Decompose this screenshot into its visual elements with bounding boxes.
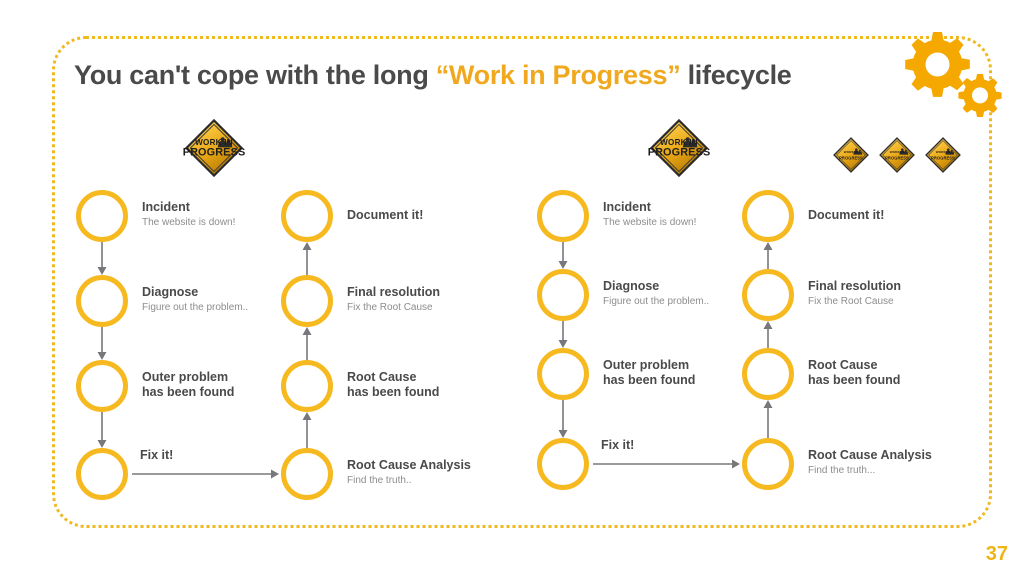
lifecycle-diagram-left-up-label-sub-3: Find the truth..: [347, 474, 471, 488]
lifecycle-diagram-right-up-label-text-1: Final resolution: [808, 279, 901, 294]
lifecycle-diagram-left-up-label-0: Document it!: [347, 208, 423, 223]
lifecycle-diagram-right-up-node-2[interactable]: [742, 348, 794, 400]
svg-text:WORK IN: WORK IN: [195, 138, 233, 147]
lifecycle-diagram-left-down-label-2: Outer problemhas been found: [142, 370, 234, 400]
lifecycle-diagram-right-up-arrow-2: [760, 400, 776, 438]
lifecycle-diagram-right-up-label-0: Document it!: [808, 208, 884, 223]
lifecycle-diagram-right-up-node-0[interactable]: [742, 190, 794, 242]
lifecycle-diagram-right-down-node-1[interactable]: [537, 269, 589, 321]
lifecycle-diagram-right-cross-arrow: [593, 456, 740, 472]
lifecycle-diagram-left-up-label-sub-1: Fix the Root Cause: [347, 301, 440, 315]
lifecycle-diagram-right-up-label-text-3: Root Cause Analysis: [808, 448, 932, 463]
lifecycle-diagram-left-up-node-2[interactable]: [281, 360, 333, 412]
svg-text:PROGRESS: PROGRESS: [885, 156, 909, 161]
lifecycle-diagram-right-down-node-3[interactable]: [537, 438, 589, 490]
lifecycle-diagram-right-down-node-0[interactable]: [537, 190, 589, 242]
lifecycle-diagram-right-up-label-text-2: has been found: [808, 373, 900, 388]
lifecycle-diagram-right-up-arrow-0: [760, 242, 776, 269]
lifecycle-diagram-left-down-arrow-2: [94, 412, 110, 448]
lifecycle-diagram-right-up-label-1: Final resolutionFix the Root Cause: [808, 279, 901, 309]
lifecycle-diagram-left-up-label-2: Root Causehas been found: [347, 370, 439, 400]
lifecycle-diagram-left-down-label-text-0: Incident: [142, 200, 235, 215]
lifecycle-diagram-right-up-node-1[interactable]: [742, 269, 794, 321]
lifecycle-diagram-left-down-node-1[interactable]: [76, 275, 128, 327]
lifecycle-diagram-right-up-label-sub-1: Fix the Root Cause: [808, 295, 901, 309]
lifecycle-diagram-left-down-arrow-1: [94, 327, 110, 360]
svg-text:PROGRESS: PROGRESS: [931, 156, 955, 161]
lifecycle-diagram-right: IncidentThe website is down!DiagnoseFigu…: [537, 190, 957, 520]
lifecycle-diagram-right-down-label-text-2: has been found: [603, 373, 695, 388]
lifecycle-diagram-right-down-arrow-2: [555, 400, 571, 438]
title-text-after: lifecycle: [680, 60, 791, 90]
lifecycle-diagram-right-down-label-sub-0: The website is down!: [603, 216, 696, 230]
svg-text:PROGRESS: PROGRESS: [839, 156, 863, 161]
lifecycle-diagram-left-up-label-text-1: Final resolution: [347, 285, 440, 300]
wip-sign-right: WORK IN PROGRESS: [648, 117, 710, 179]
lifecycle-diagram-right-down-label-0: IncidentThe website is down!: [603, 200, 696, 230]
lifecycle-diagram-left-down-label-1: DiagnoseFigure out the problem..: [142, 285, 248, 315]
lifecycle-diagram-right-up-label-2: Root Causehas been found: [808, 358, 900, 388]
page-number: 37: [986, 543, 1008, 566]
lifecycle-diagram-right-down-label-text-2: Outer problem: [603, 358, 695, 373]
lifecycle-diagram-right-up-arrow-1: [760, 321, 776, 348]
lifecycle-diagram-left-down-arrow-0: [94, 242, 110, 275]
lifecycle-diagram-left-up-label-text-2: has been found: [347, 385, 439, 400]
lifecycle-diagram-right-down-label-text-0: Incident: [603, 200, 696, 215]
svg-text:PROGRESS: PROGRESS: [648, 146, 710, 158]
wip-sign-extra-3: WORK IN PROGRESS: [924, 136, 962, 174]
svg-text:WORK IN: WORK IN: [890, 150, 905, 154]
lifecycle-diagram-left-up-node-3[interactable]: [281, 448, 333, 500]
lifecycle-diagram-right-cross-arrow-label: Fix it!: [601, 438, 634, 452]
wip-sign-extra-2: WORK IN PROGRESS: [878, 136, 916, 174]
svg-text:WORK IN: WORK IN: [936, 150, 951, 154]
lifecycle-diagram-left-up-node-0[interactable]: [281, 190, 333, 242]
lifecycle-diagram-right-down-label-sub-1: Figure out the problem..: [603, 295, 709, 309]
lifecycle-diagram-left-up-label-text-3: Root Cause Analysis: [347, 458, 471, 473]
lifecycle-diagram-left: IncidentThe website is down!DiagnoseFigu…: [76, 190, 496, 520]
lifecycle-diagram-right-up-label-text-2: Root Cause: [808, 358, 900, 373]
lifecycle-diagram-right-up-label-text-0: Document it!: [808, 208, 884, 223]
lifecycle-diagram-right-down-label-1: DiagnoseFigure out the problem..: [603, 279, 709, 309]
lifecycle-diagram-left-up-label-text-0: Document it!: [347, 208, 423, 223]
lifecycle-diagram-right-up-label-3: Root Cause AnalysisFind the truth...: [808, 448, 932, 478]
svg-text:PROGRESS: PROGRESS: [183, 146, 245, 158]
lifecycle-diagram-left-down-label-0: IncidentThe website is down!: [142, 200, 235, 230]
lifecycle-diagram-left-down-node-2[interactable]: [76, 360, 128, 412]
lifecycle-diagram-left-down-label-text-2: Outer problem: [142, 370, 234, 385]
lifecycle-diagram-left-down-label-text-1: Diagnose: [142, 285, 248, 300]
page-title: You can't cope with the long “Work in Pr…: [74, 60, 791, 91]
lifecycle-diagram-left-down-node-3[interactable]: [76, 448, 128, 500]
lifecycle-diagram-right-down-label-2: Outer problemhas been found: [603, 358, 695, 388]
lifecycle-diagram-right-up-node-3[interactable]: [742, 438, 794, 490]
lifecycle-diagram-left-cross-arrow: [132, 466, 279, 482]
lifecycle-diagram-right-down-label-text-1: Diagnose: [603, 279, 709, 294]
lifecycle-diagram-left-down-label-sub-0: The website is down!: [142, 216, 235, 230]
title-highlight: “Work in Progress”: [436, 60, 681, 90]
lifecycle-diagram-right-up-label-sub-3: Find the truth...: [808, 464, 932, 478]
lifecycle-diagram-right-down-arrow-1: [555, 321, 571, 348]
slide: You can't cope with the long “Work in Pr…: [0, 0, 1024, 576]
lifecycle-diagram-left-up-label-1: Final resolutionFix the Root Cause: [347, 285, 440, 315]
title-text-before: You can't cope with the long: [74, 60, 436, 90]
svg-text:WORK IN: WORK IN: [844, 150, 859, 154]
lifecycle-diagram-right-down-node-2[interactable]: [537, 348, 589, 400]
lifecycle-diagram-right-down-arrow-0: [555, 242, 571, 269]
wip-sign-left: WORK IN PROGRESS: [183, 117, 245, 179]
lifecycle-diagram-left-up-node-1[interactable]: [281, 275, 333, 327]
lifecycle-diagram-left-cross-arrow-label: Fix it!: [140, 448, 173, 462]
wip-sign-extra-1: WORK IN PROGRESS: [832, 136, 870, 174]
lifecycle-diagram-left-up-label-3: Root Cause AnalysisFind the truth..: [347, 458, 471, 488]
lifecycle-diagram-left-up-arrow-2: [299, 412, 315, 448]
lifecycle-diagram-left-down-node-0[interactable]: [76, 190, 128, 242]
lifecycle-diagram-left-up-arrow-0: [299, 242, 315, 275]
lifecycle-diagram-left-down-label-text-2: has been found: [142, 385, 234, 400]
lifecycle-diagram-left-up-label-text-2: Root Cause: [347, 370, 439, 385]
lifecycle-diagram-left-down-label-sub-1: Figure out the problem..: [142, 301, 248, 315]
gears-icon: [892, 24, 1012, 124]
svg-text:WORK IN: WORK IN: [660, 138, 698, 147]
lifecycle-diagram-left-up-arrow-1: [299, 327, 315, 360]
